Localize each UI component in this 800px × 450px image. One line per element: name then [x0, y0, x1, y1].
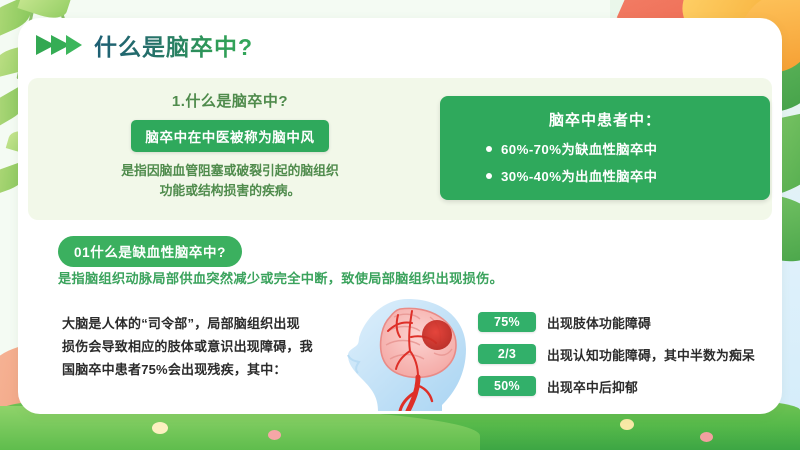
status-badge: 50% — [478, 376, 536, 396]
flower-2 — [268, 430, 281, 440]
flower-4 — [700, 432, 713, 442]
disability-stat-label: 出现肢体功能障碍 — [547, 313, 651, 332]
slide-header: 什么是脑卒中? — [36, 28, 253, 62]
body-line-3: 国脑卒中患者75%会出现残疾，其中： — [62, 359, 347, 382]
brain-stroke-illustration — [338, 293, 488, 411]
definition-line-1: 是指因脑血管阻塞或破裂引起的脑组织 — [60, 161, 400, 181]
list-item: 75% 出现肢体功能障碍 — [478, 312, 778, 332]
disability-stat-label: 出现认知功能障碍，其中半数为痴呆 — [547, 345, 755, 364]
disability-stat-label: 出现卒中后抑郁 — [547, 377, 638, 396]
list-item: 60%-70%为缺血性脑卒中 — [486, 139, 770, 158]
section-description: 是指脑组织动脉局部供血突然减少或完全中断，致使局部脑组织出现损伤。 — [58, 268, 503, 287]
status-badge: 75% — [478, 312, 536, 332]
flower-1 — [152, 422, 168, 434]
patient-stats-title: 脑卒中患者中： — [440, 96, 770, 130]
definition-heading: 1.什么是脑卒中? — [60, 90, 400, 111]
disability-stats-list: 75% 出现肢体功能障碍 2/3 出现认知功能障碍，其中半数为痴呆 50% 出现… — [478, 312, 778, 408]
patient-stats-box: 脑卒中患者中： 60%-70%为缺血性脑卒中 30%-40%为出血性脑卒中 — [440, 96, 770, 200]
patient-stats-list: 60%-70%为缺血性脑卒中 30%-40%为出血性脑卒中 — [440, 139, 770, 185]
page-title: 什么是脑卒中? — [94, 28, 253, 62]
body-line-1: 大脑是人体的“司令部”，局部脑组织出现 — [62, 313, 347, 336]
patient-stat-label: 30%-40%为出血性脑卒中 — [501, 166, 657, 185]
list-item: 2/3 出现认知功能障碍，其中半数为痴呆 — [478, 344, 778, 364]
status-badge: 2/3 — [478, 344, 536, 364]
body-paragraph: 大脑是人体的“司令部”，局部脑组织出现 损伤会导致相应的肢体或意识出现障碍，我 … — [62, 313, 347, 381]
definition-block: 1.什么是脑卒中? 脑卒中在中医被称为脑中风 是指因脑血管阻塞或破裂引起的脑组织… — [60, 90, 400, 201]
section-pill-01: 01什么是缺血性脑卒中? — [58, 236, 242, 267]
bullet-dot-icon — [486, 146, 492, 152]
list-item: 30%-40%为出血性脑卒中 — [486, 166, 770, 185]
slide-root: 什么是脑卒中? 1.什么是脑卒中? 脑卒中在中医被称为脑中风 是指因脑血管阻塞或… — [0, 0, 800, 450]
definition-pill: 脑卒中在中医被称为脑中风 — [131, 120, 328, 152]
definition-line-2: 功能或结构损害的疾病。 — [60, 181, 400, 201]
body-line-2: 损伤会导致相应的肢体或意识出现障碍，我 — [62, 336, 347, 359]
double-chevron-right-icon — [36, 34, 82, 56]
bullet-dot-icon — [486, 173, 492, 179]
list-item: 50% 出现卒中后抑郁 — [478, 376, 778, 396]
patient-stat-label: 60%-70%为缺血性脑卒中 — [501, 139, 657, 158]
definition-text: 是指因脑血管阻塞或破裂引起的脑组织 功能或结构损害的疾病。 — [60, 161, 400, 201]
flower-3 — [620, 419, 634, 430]
